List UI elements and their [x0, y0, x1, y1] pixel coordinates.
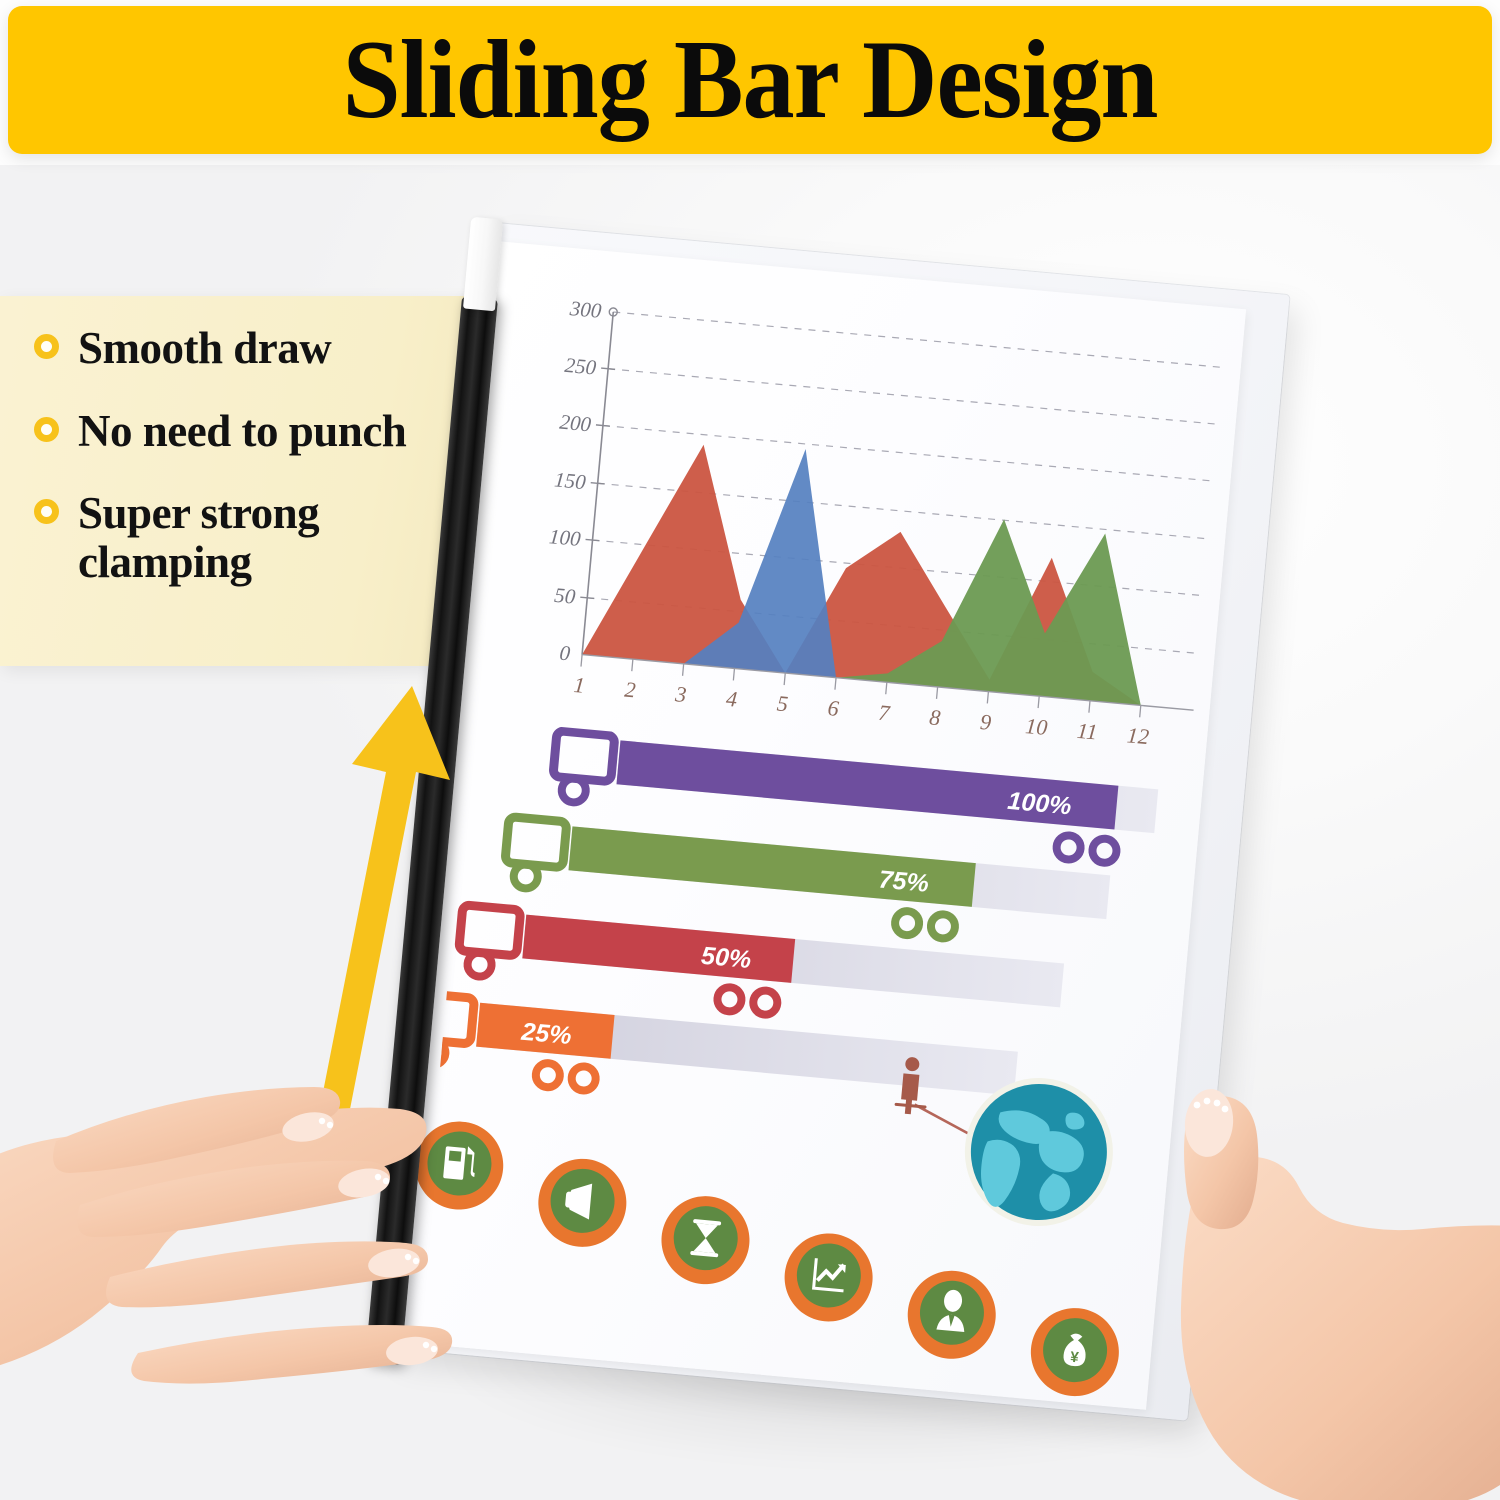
ring-bullet-icon [34, 499, 59, 524]
product-marketing-image: Sliding Bar Design Smooth draw No need t… [0, 0, 1500, 1500]
x-tick-label: 1 [573, 672, 586, 698]
pin-growth-chart [781, 1230, 877, 1326]
bar-value-label: 50% [700, 942, 752, 974]
bar-value-label: 100% [1006, 787, 1072, 821]
feature-item: No need to punch [34, 407, 496, 456]
bar-value-label: 25% [519, 1018, 572, 1051]
y-tick-label: 50 [553, 583, 577, 609]
feature-label: No need to punch [78, 407, 406, 456]
feature-label: Super strong clamping [78, 489, 319, 586]
page-title: Sliding Bar Design [343, 24, 1158, 136]
trailer-wheel-icon [535, 1062, 561, 1088]
bar-fill [522, 915, 795, 983]
y-tick-label: 100 [548, 524, 582, 551]
pin-megaphone [535, 1155, 631, 1251]
pin-hourglass [658, 1192, 754, 1288]
truck-icon [553, 731, 615, 782]
truck-icon [505, 817, 567, 868]
right-hand [1165, 1075, 1500, 1500]
x-tick-label: 10 [1024, 713, 1048, 740]
left-hand [0, 955, 520, 1500]
bar-value-label: 75% [878, 865, 930, 897]
y-tick-label: 0 [559, 641, 572, 666]
feature-item: Super strong clamping [34, 489, 496, 586]
y-tick-label: 300 [568, 300, 603, 323]
y-tick-label: 250 [564, 353, 598, 380]
area-chart: 300 250 200 150 100 50 0 [532, 300, 1227, 778]
x-tick-label: 3 [673, 681, 687, 707]
x-tick-label: 12 [1126, 722, 1150, 749]
x-tick-label: 7 [877, 700, 891, 726]
ring-bullet-icon [34, 417, 59, 442]
trailer-wheel-icon [894, 910, 920, 936]
x-tick-label: 9 [979, 709, 992, 735]
y-tick-label: 150 [553, 467, 587, 494]
trailer-wheel-icon [930, 913, 956, 939]
trailer-wheel-icon [752, 990, 778, 1016]
pin-money-bag: ¥ [1027, 1304, 1123, 1400]
x-tick-label: 8 [928, 704, 941, 730]
truck-wheel-icon [513, 863, 539, 889]
header-banner: Sliding Bar Design [8, 6, 1492, 154]
feature-item: Smooth draw [34, 324, 496, 373]
truck-wheel-icon [561, 777, 587, 803]
x-tick-label: 5 [776, 690, 789, 716]
pin-businessperson [904, 1267, 1000, 1363]
trailer-wheel-icon [571, 1065, 597, 1091]
feature-label: Smooth draw [78, 324, 331, 373]
x-tick-label: 4 [725, 686, 738, 712]
x-tick-label: 11 [1076, 718, 1099, 745]
ring-bullet-icon [34, 334, 59, 359]
trailer-wheel-icon [1091, 838, 1117, 864]
x-tick-label: 2 [624, 677, 637, 703]
trailer-wheel-icon [1056, 834, 1082, 860]
person-icon [894, 1056, 931, 1116]
trailer-wheel-icon [716, 986, 742, 1012]
x-tick-label: 6 [827, 695, 840, 721]
y-tick-label: 200 [559, 410, 593, 437]
